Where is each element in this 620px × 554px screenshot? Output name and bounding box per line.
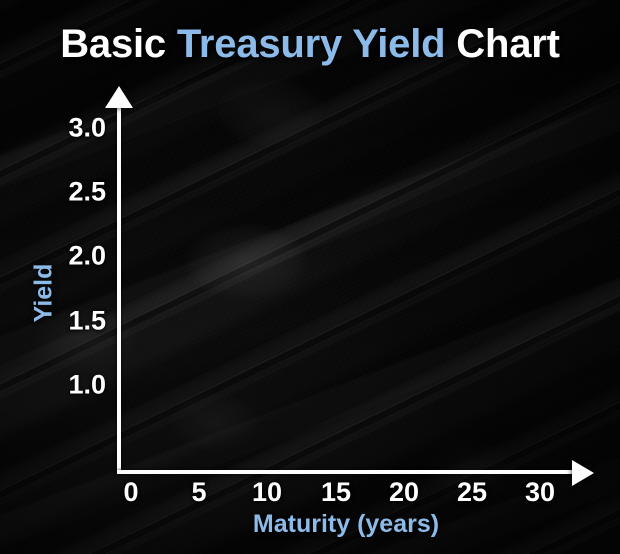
arrow-right-icon: [572, 460, 594, 486]
x-axis-title: Maturity (years): [117, 510, 575, 539]
x-tick-15: 15: [321, 477, 351, 508]
chart-title-prefix: Basic: [60, 22, 177, 66]
x-tick-25: 25: [457, 477, 487, 508]
y-tick-label: 1.0: [68, 370, 106, 401]
chart-title-accent: Treasury Yield: [177, 22, 445, 66]
arrow-up-icon: [105, 86, 133, 108]
chart-figure: Basic Treasury Yield Chart 3.0 2.5 2.0 1…: [0, 0, 620, 554]
x-tick-5: 5: [191, 477, 206, 508]
chart-title-suffix: Chart: [445, 22, 559, 66]
y-axis-line: [117, 104, 121, 474]
x-tick-30: 30: [525, 477, 555, 508]
y-tick-label: 3.0: [68, 113, 106, 144]
y-tick-label: 2.5: [68, 177, 106, 208]
y-tick-label: 1.5: [68, 306, 106, 337]
x-tick-20: 20: [389, 477, 419, 508]
chart-title: Basic Treasury Yield Chart: [0, 22, 620, 67]
y-axis-title: Yield: [30, 264, 59, 323]
x-tick-10: 10: [252, 477, 282, 508]
x-tick-0: 0: [123, 477, 138, 508]
x-axis-line: [117, 470, 575, 474]
y-tick-label: 2.0: [68, 241, 106, 272]
